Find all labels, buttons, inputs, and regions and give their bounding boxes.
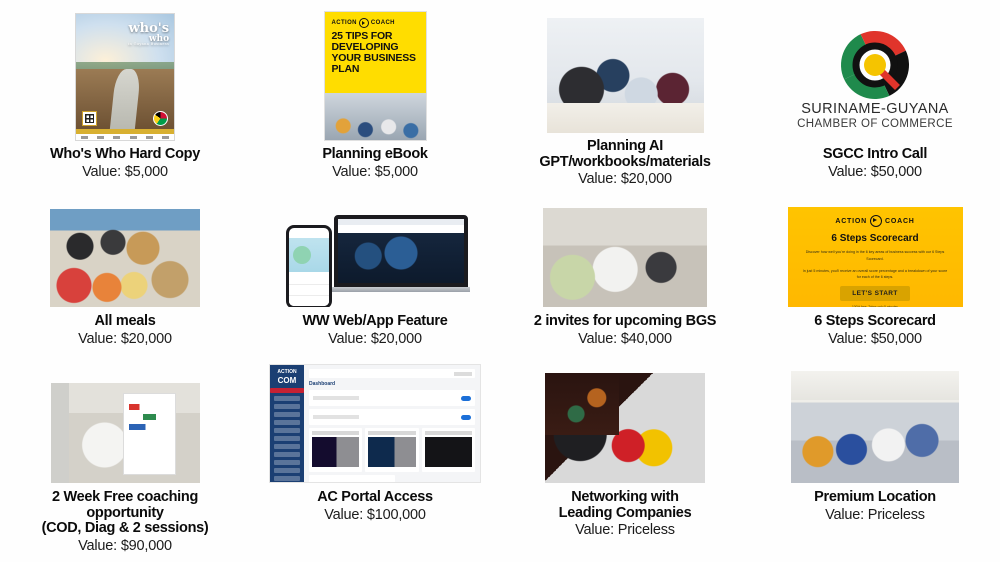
item-title: AC Portal Access xyxy=(317,490,433,506)
item-value: Value: $100,000 xyxy=(317,508,433,524)
devices-laptop-phone-mockup-image xyxy=(280,211,470,307)
actioncoach-mark-icon xyxy=(870,215,882,227)
card-thumbnail xyxy=(368,437,415,467)
thumbnail-wrap xyxy=(51,373,200,483)
item-title: Who's Who Hard Copy xyxy=(50,147,200,163)
item-caption: Planning AI GPT/workbooks/materials Valu… xyxy=(506,139,744,188)
card-title xyxy=(368,431,415,435)
sidebar-item-2[interactable] xyxy=(274,396,300,401)
grid-item-bgs-invites[interactable]: 2 invites for upcoming BGS Value: $40,00… xyxy=(500,188,750,363)
sidebar-item-11[interactable] xyxy=(274,468,300,473)
sgcc-logo-svg: SURINAME-GUYANA CHAMBER OF COMMERCE xyxy=(790,21,960,141)
item-value: Value: $20,000 xyxy=(506,172,744,188)
thumbnail-wrap xyxy=(547,13,704,133)
grid-item-networking[interactable]: Networking with Leading Companies Value:… xyxy=(500,363,750,562)
item-value: Value: $90,000 xyxy=(42,539,209,555)
item-title: Planning AI GPT/workbooks/materials xyxy=(506,139,744,170)
thumbnail-wrap: ACTION COACH 6 Steps Scorecard Discover … xyxy=(788,199,963,307)
sidebar-item-12[interactable] xyxy=(274,476,300,481)
scorecard-title: 6 Steps Scorecard xyxy=(831,233,918,244)
sidebar-item-dashboard[interactable] xyxy=(270,388,304,393)
user-avatar[interactable] xyxy=(454,372,472,376)
scorecard-paragraph-1: Discover how well you're doing in the 6 … xyxy=(802,249,949,263)
item-title: SGCC Intro Call xyxy=(823,147,927,163)
card-thumbnail xyxy=(425,437,472,467)
thumbnail-wrap xyxy=(50,199,200,307)
phone-result-list xyxy=(289,274,329,306)
sidebar-item-5[interactable] xyxy=(274,420,300,425)
portal-bottom-panel xyxy=(309,475,395,483)
photo-delegates-laptops-image xyxy=(543,208,707,307)
thumbnail-wrap xyxy=(543,199,707,307)
toggle-switch[interactable] xyxy=(461,396,471,401)
sidebar-item-7[interactable] xyxy=(274,436,300,441)
sgcc-logo-line2: CHAMBER OF COMMERCE xyxy=(797,118,953,130)
site-navbar xyxy=(338,225,464,233)
grid-item-planning-ebook[interactable]: ACTION COACH 25 TIPS FOR DEVELOPING YOUR… xyxy=(250,0,500,188)
ebook-cover-photo xyxy=(325,93,426,140)
item-value: Value: $50,000 xyxy=(823,165,927,181)
grid-item-all-meals[interactable]: All meals Value: $20,000 xyxy=(0,188,250,363)
card-title xyxy=(425,431,472,435)
item-caption: 2 invites for upcoming BGS Value: $40,00… xyxy=(534,314,716,347)
actioncoach-logo: ACTION COACH xyxy=(332,18,419,28)
item-title: All meals xyxy=(78,314,172,330)
items-grid: who's who in Guyana Business Who's Who H… xyxy=(0,0,1000,562)
sidebar-item-4[interactable] xyxy=(274,412,300,417)
grid-item-two-week-coaching[interactable]: 2 Week Free coaching opportunity (COD, D… xyxy=(0,363,250,562)
item-title: 2 invites for upcoming BGS xyxy=(534,314,716,330)
item-title: WW Web/App Feature xyxy=(303,314,448,330)
grid-item-whos-who-hard-copy[interactable]: who's who in Guyana Business Who's Who H… xyxy=(0,0,250,188)
photo-catering-buffet-image xyxy=(50,209,200,307)
thumbnail-wrap xyxy=(791,373,959,483)
ebook-headline: 25 TIPS FOR DEVELOPING YOUR BUSINESS PLA… xyxy=(332,31,419,76)
photo-networking-table-image xyxy=(545,373,705,483)
thumbnail-wrap: ACTION COACH 25 TIPS FOR DEVELOPING YOUR… xyxy=(324,13,427,141)
thumbnail-wrap xyxy=(545,373,705,483)
item-value: Value: Priceless xyxy=(559,523,692,539)
sidebar-item-8[interactable] xyxy=(274,444,300,449)
grid-item-sgcc-intro-call[interactable]: SURINAME-GUYANA CHAMBER OF COMMERCE SGCC… xyxy=(750,0,1000,188)
grid-item-ac-portal-access[interactable]: ACTION COM xyxy=(250,363,500,562)
portal-topbar xyxy=(309,369,475,378)
item-value: Value: $20,000 xyxy=(78,332,172,348)
thumbnail-wrap: who's who in Guyana Business xyxy=(75,13,175,141)
sidebar-item-6[interactable] xyxy=(274,428,300,433)
item-value: Value: Priceless xyxy=(814,508,936,524)
lets-start-button[interactable]: LET'S START xyxy=(840,286,910,301)
item-caption: Premium Location Value: Priceless xyxy=(814,490,936,523)
scorecard-paragraph-2: In just 5 minutes, you'll receive an ove… xyxy=(802,268,949,282)
item-title: Networking with Leading Companies xyxy=(559,490,692,521)
graphic-6-steps-scorecard-image: ACTION COACH 6 Steps Scorecard Discover … xyxy=(788,207,963,307)
screenshot-actioncom-dashboard-image: ACTION COM xyxy=(269,364,481,483)
grid-item-six-steps-scorecard[interactable]: ACTION COACH 6 Steps Scorecard Discover … xyxy=(750,188,1000,363)
item-value: Value: $40,000 xyxy=(534,332,716,348)
portal-sidebar: ACTION COM xyxy=(270,365,304,482)
photo-coach-flipchart-image xyxy=(51,383,200,483)
item-value: Value: $50,000 xyxy=(814,332,935,348)
sidebar-item-10[interactable] xyxy=(274,460,300,465)
item-title: Premium Location xyxy=(814,490,936,506)
item-title: 6 Steps Scorecard xyxy=(814,314,935,330)
item-caption: Planning eBook Value: $5,000 xyxy=(322,147,427,180)
portal-main: Dashboard xyxy=(304,365,480,482)
photo-workshop-tables-image xyxy=(547,18,704,133)
phone-map-view xyxy=(289,238,329,272)
card-thumbnail xyxy=(312,437,359,467)
card-title xyxy=(312,431,359,435)
whos-who-wordmark: who's who in Guyana Business xyxy=(128,23,169,46)
ebook-cover-25-tips-image: ACTION COACH 25 TIPS FOR DEVELOPING YOUR… xyxy=(324,11,427,141)
portal-card-row xyxy=(309,428,475,472)
item-caption: Networking with Leading Companies Value:… xyxy=(559,490,692,539)
actioncoach-mark-icon xyxy=(359,18,369,28)
flipchart xyxy=(123,393,176,475)
laptop-screen xyxy=(334,215,468,287)
item-value: Value: $20,000 xyxy=(303,332,448,348)
item-value: Value: $5,000 xyxy=(50,165,200,181)
phone-mockup xyxy=(286,225,332,307)
sgcc-logo-line1: SURINAME-GUYANA xyxy=(801,101,949,117)
portal-toggle-row-team[interactable] xyxy=(309,409,475,425)
thumbnail-wrap xyxy=(280,199,470,307)
row-label xyxy=(313,415,359,419)
ebook-cover-top: ACTION COACH 25 TIPS FOR DEVELOPING YOUR… xyxy=(325,12,426,93)
laptop-base xyxy=(326,287,470,292)
item-title: 2 Week Free coaching opportunity (COD, D… xyxy=(42,490,209,537)
logo-suriname-guyana-chamber-image: SURINAME-GUYANA CHAMBER OF COMMERCE xyxy=(790,21,960,141)
item-caption: 2 Week Free coaching opportunity (COD, D… xyxy=(42,490,209,555)
grid-item-ww-web-app-feature[interactable]: WW Web/App Feature Value: $20,000 xyxy=(250,188,500,363)
grid-item-premium-location[interactable]: Premium Location Value: Priceless xyxy=(750,363,1000,562)
sidebar-item-3[interactable] xyxy=(274,404,300,409)
item-value: Value: $5,000 xyxy=(322,165,427,181)
item-caption: 6 Steps Scorecard Value: $50,000 xyxy=(814,314,935,347)
qr-code-icon xyxy=(82,111,97,126)
actioncom-logo: ACTION COM xyxy=(270,365,304,385)
item-caption: WW Web/App Feature Value: $20,000 xyxy=(303,314,448,347)
portal-card[interactable] xyxy=(309,428,362,472)
portal-card[interactable] xyxy=(365,428,418,472)
value-stack-slide: who's who in Guyana Business Who's Who H… xyxy=(0,0,1000,562)
cover-sponsor-strip xyxy=(76,134,174,140)
photo-conference-ballroom-image xyxy=(791,371,959,483)
site-hero xyxy=(338,233,464,283)
portal-page-title: Dashboard xyxy=(309,381,475,387)
book-cover-whos-who-image: who's who in Guyana Business xyxy=(75,13,175,141)
portal-toggle-row-kpis[interactable] xyxy=(309,390,475,406)
item-caption: SGCC Intro Call Value: $50,000 xyxy=(823,147,927,180)
scorecard-footnote: 100% free. Takes only 5 minutes xyxy=(852,305,898,307)
sidebar-item-9[interactable] xyxy=(274,452,300,457)
grid-item-planning-ai-gpt[interactable]: Planning AI GPT/workbooks/materials Valu… xyxy=(500,0,750,188)
toggle-switch[interactable] xyxy=(461,415,471,420)
portal-card[interactable] xyxy=(422,428,475,472)
laptop-mockup xyxy=(334,215,468,295)
item-caption: Who's Who Hard Copy Value: $5,000 xyxy=(50,147,200,180)
row-label xyxy=(313,396,359,400)
item-caption: All meals Value: $20,000 xyxy=(78,314,172,347)
item-caption: AC Portal Access Value: $100,000 xyxy=(317,490,433,523)
thumbnail-wrap: SURINAME-GUYANA CHAMBER OF COMMERCE xyxy=(790,13,960,141)
actioncoach-logo: ACTION COACH xyxy=(835,215,914,227)
thumbnail-wrap: ACTION COM xyxy=(269,373,481,483)
item-title: Planning eBook xyxy=(322,147,427,163)
